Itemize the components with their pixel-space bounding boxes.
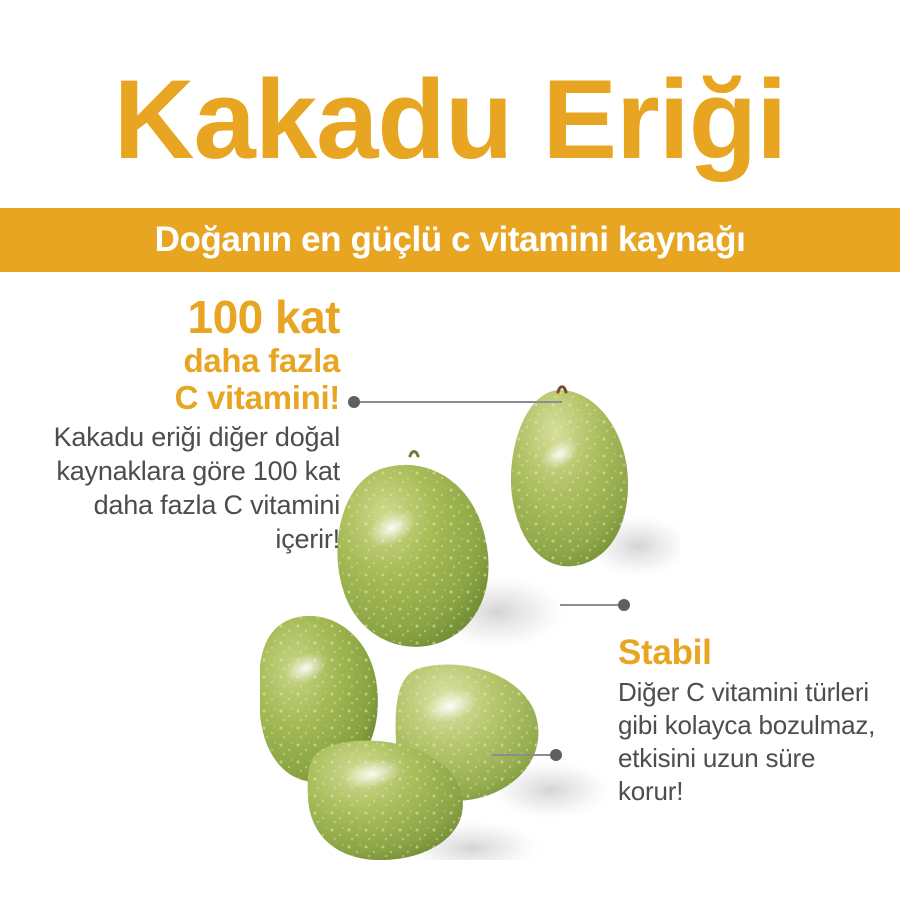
subtitle-text: Doğanın en güçlü c vitamini kaynağı [155,220,746,260]
benefit-headline-stabil: Stabil [618,632,880,674]
connector-dot [550,749,562,761]
benefit-body-vitamin-c: Kakadu eriği diğer doğal kaynaklara göre… [30,420,340,556]
benefit-block-vitamin-c: 100 kat daha fazla C vitamini! Kakadu er… [30,292,340,556]
connector-dot [618,599,630,611]
connector-stabil-lower [492,749,562,761]
connector-stabil-upper [560,599,630,611]
benefit-headline-large: 100 kat [30,292,340,342]
connector-vitamin-c [348,396,562,408]
benefit-block-stabil: Stabil Diğer C vitamini türleri gibi kol… [618,632,880,808]
page-title: Kakadu Eriği [0,60,900,180]
benefit-body-stabil: Diğer C vitamini türleri gibi kolayca bo… [618,676,880,808]
connector-line [348,401,562,403]
connector-dot [348,396,360,408]
poster-canvas: Kakadu Eriği Doğanın en güçlü c vitamini… [0,0,900,900]
benefit-headline-line3: C vitamini! [30,379,340,416]
subtitle-banner: Doğanın en güçlü c vitamini kaynağı [0,208,900,272]
benefit-headline-line2: daha fazla [30,342,340,379]
